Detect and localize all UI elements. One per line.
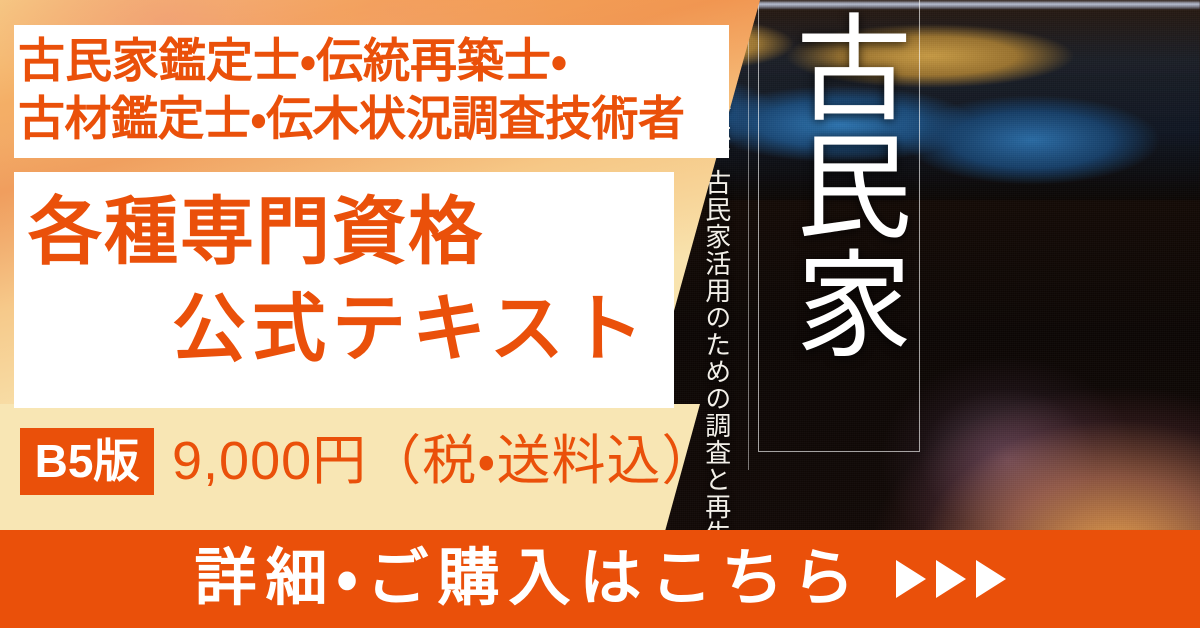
cta-bar[interactable]: 詳細・ご購入はこちら: [0, 530, 1200, 628]
headline-line-2: 古材鑑定士・伝木状況調査技術者: [18, 90, 724, 148]
headline-line-1: 古民家鑑定士・伝統再築士・: [18, 32, 724, 90]
cta-label: 詳細・ご購入はこちら: [194, 548, 863, 610]
cover-vertical-rule: [748, 0, 749, 470]
qualifications-headline: 古民家鑑定士・伝統再築士・ 古材鑑定士・伝木状況調査技術者: [18, 32, 724, 148]
product-title-line-2: 公式テキスト: [14, 280, 674, 377]
promo-banner: 伝統構法、古民家活用のための調査と再生の 古民家 古民家鑑定士・伝統再築士・ 古…: [0, 0, 1200, 628]
cta-arrows: [896, 560, 1006, 598]
product-title: 各種専門資格 公式テキスト: [14, 183, 674, 377]
price-label: 9,000円（税・送料込）: [172, 428, 717, 495]
product-title-line-1: 各種専門資格: [14, 183, 674, 280]
play-arrow-icon: [936, 560, 966, 598]
book-cover-title: 古民家: [770, 8, 910, 362]
size-badge: B5版: [20, 428, 154, 495]
play-arrow-icon: [896, 560, 926, 598]
play-arrow-icon: [976, 560, 1006, 598]
